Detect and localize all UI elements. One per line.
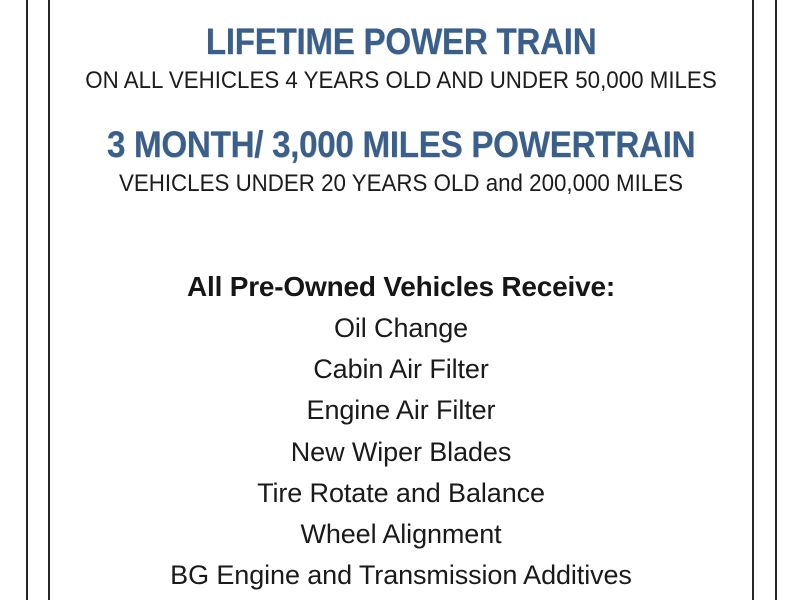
list-item: Cabin Air Filter <box>50 354 752 384</box>
warranty-subtitle-three-month: VEHICLES UNDER 20 YEARS OLD and 200,000 … <box>75 170 728 198</box>
frame-rule-left-outer <box>26 0 28 600</box>
list-item: BG Engine and Transmission Additives <box>50 560 752 590</box>
list-item: Oil Change <box>50 313 752 343</box>
flyer-content: LIFETIME POWER TRAIN ON ALL VEHICLES 4 Y… <box>50 0 752 600</box>
list-item: New Wiper Blades <box>50 437 752 467</box>
services-list: All Pre-Owned Vehicles Receive: Oil Chan… <box>50 271 752 591</box>
warranty-offer-three-month: 3 MONTH/ 3,000 MILES POWERTRAIN VEHICLES… <box>50 125 752 198</box>
warranty-flyer: LIFETIME POWER TRAIN ON ALL VEHICLES 4 Y… <box>0 0 800 600</box>
services-list-heading: All Pre-Owned Vehicles Receive: <box>50 271 752 302</box>
warranty-offer-lifetime: LIFETIME POWER TRAIN ON ALL VEHICLES 4 Y… <box>50 22 752 95</box>
warranty-subtitle-lifetime: ON ALL VEHICLES 4 YEARS OLD AND UNDER 50… <box>75 67 728 95</box>
list-item: Engine Air Filter <box>50 395 752 425</box>
list-item: Wheel Alignment <box>50 519 752 549</box>
frame-rule-right-outer <box>775 0 777 600</box>
warranty-title-three-month: 3 MONTH/ 3,000 MILES POWERTRAIN <box>85 125 717 164</box>
warranty-title-lifetime: LIFETIME POWER TRAIN <box>85 22 717 61</box>
frame-rule-right-inner <box>752 0 754 600</box>
list-item: Tire Rotate and Balance <box>50 478 752 508</box>
